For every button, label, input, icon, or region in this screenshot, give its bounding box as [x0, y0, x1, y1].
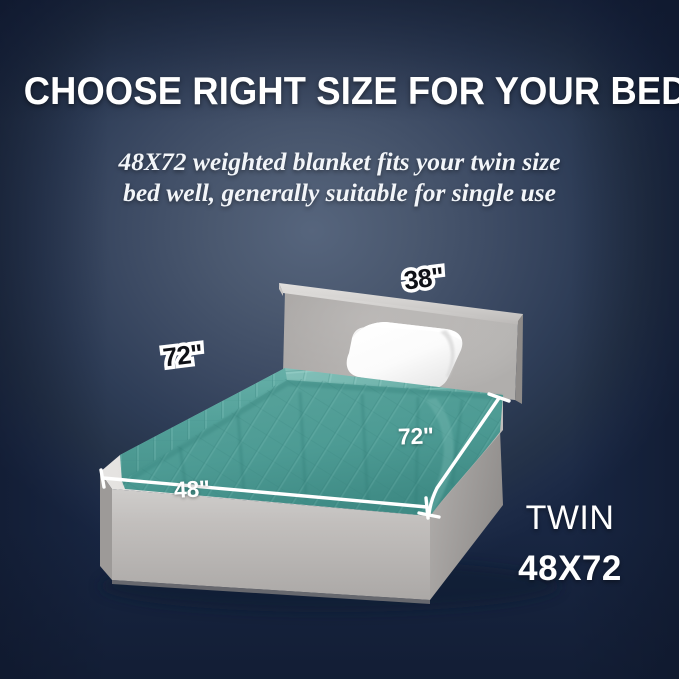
size-dimensions: 48X72	[470, 549, 670, 589]
measure-tick-48-right	[426, 498, 428, 518]
infographic-canvas: CHOOSE RIGHT SIZE FOR YOUR BED: 48X72 we…	[0, 0, 679, 679]
label-headboard-width-text: 38"	[402, 263, 445, 294]
size-name: TWIN	[470, 499, 670, 538]
label-blanket-length: 72"	[398, 424, 434, 448]
label-blanket-width: 48"	[173, 477, 210, 502]
label-bed-length-text: 72"	[161, 340, 204, 371]
base-left-corner	[100, 472, 112, 580]
